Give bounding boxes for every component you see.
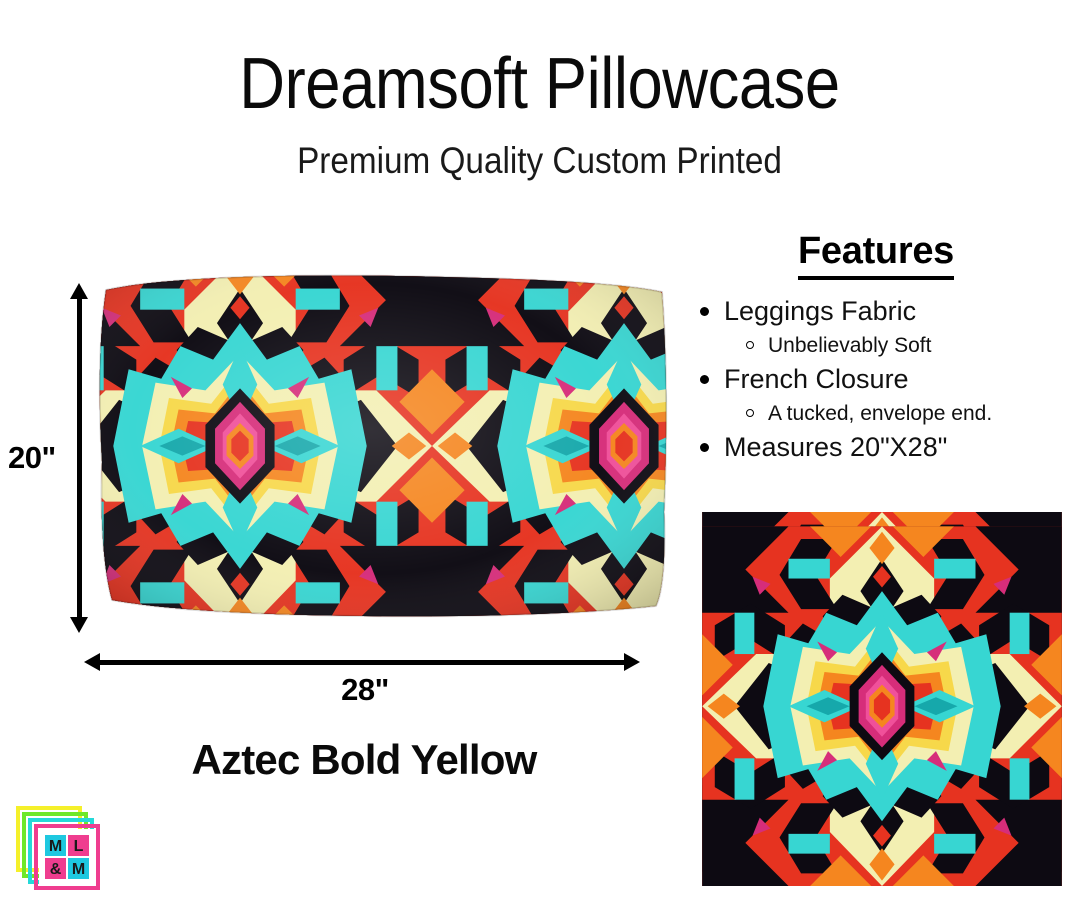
- product-infographic: Dreamsoft Pillowcase Premium Quality Cus…: [0, 0, 1079, 920]
- arrowhead-right-icon: [624, 653, 640, 671]
- feature-sublabel: A tucked, envelope end.: [768, 402, 992, 425]
- pillow-image: [96, 272, 670, 620]
- feature-label: French Closure: [724, 364, 909, 394]
- hollow-bullet-icon: [746, 341, 754, 349]
- svg-text:M: M: [49, 838, 62, 855]
- bullet-icon: [700, 375, 709, 384]
- bullet-icon: [700, 443, 709, 452]
- svg-text:L: L: [74, 838, 84, 855]
- features-heading: Features: [676, 230, 1076, 282]
- feature-label: Measures 20"X28": [724, 432, 947, 462]
- arrow-shaft: [77, 293, 82, 623]
- svg-text:&: &: [50, 861, 62, 878]
- brand-logo: M L & M: [12, 802, 104, 894]
- feature-item: Leggings Fabric Unbelievably Soft: [698, 294, 1076, 360]
- feature-sublabel: Unbelievably Soft: [768, 334, 931, 357]
- feature-sublist: Unbelievably Soft: [724, 331, 1076, 360]
- svg-text:M: M: [72, 861, 85, 878]
- fabric-swatch-illustration: [702, 512, 1062, 886]
- width-dimension-arrow: [84, 653, 640, 671]
- arrow-shaft: [94, 660, 630, 665]
- fabric-swatch-image: [702, 512, 1062, 886]
- height-dimension-arrow: [70, 283, 88, 633]
- feature-item: Measures 20"X28": [698, 430, 1076, 466]
- bullet-icon: [700, 307, 709, 316]
- width-dimension-label: 28": [0, 672, 730, 708]
- page-subtitle: Premium Quality Custom Printed: [54, 140, 1025, 182]
- feature-subitem: Unbelievably Soft: [742, 331, 1076, 360]
- feature-item: French Closure A tucked, envelope end.: [698, 362, 1076, 428]
- arrowhead-down-icon: [70, 617, 88, 633]
- features-heading-text: Features: [798, 230, 954, 280]
- pillow-illustration: [96, 272, 670, 620]
- mlm-logo-icon: M L & M: [12, 802, 104, 894]
- height-dimension-label: 20": [8, 440, 56, 476]
- product-name: Aztec Bold Yellow: [0, 736, 728, 784]
- page-title: Dreamsoft Pillowcase: [65, 48, 1015, 121]
- feature-subitem: A tucked, envelope end.: [742, 399, 1076, 428]
- features-list: Leggings Fabric Unbelievably Soft French…: [676, 294, 1076, 466]
- feature-label: Leggings Fabric: [724, 296, 916, 326]
- feature-sublist: A tucked, envelope end.: [724, 399, 1076, 428]
- features-panel: Features Leggings Fabric Unbelievably So…: [676, 230, 1076, 468]
- hollow-bullet-icon: [746, 409, 754, 417]
